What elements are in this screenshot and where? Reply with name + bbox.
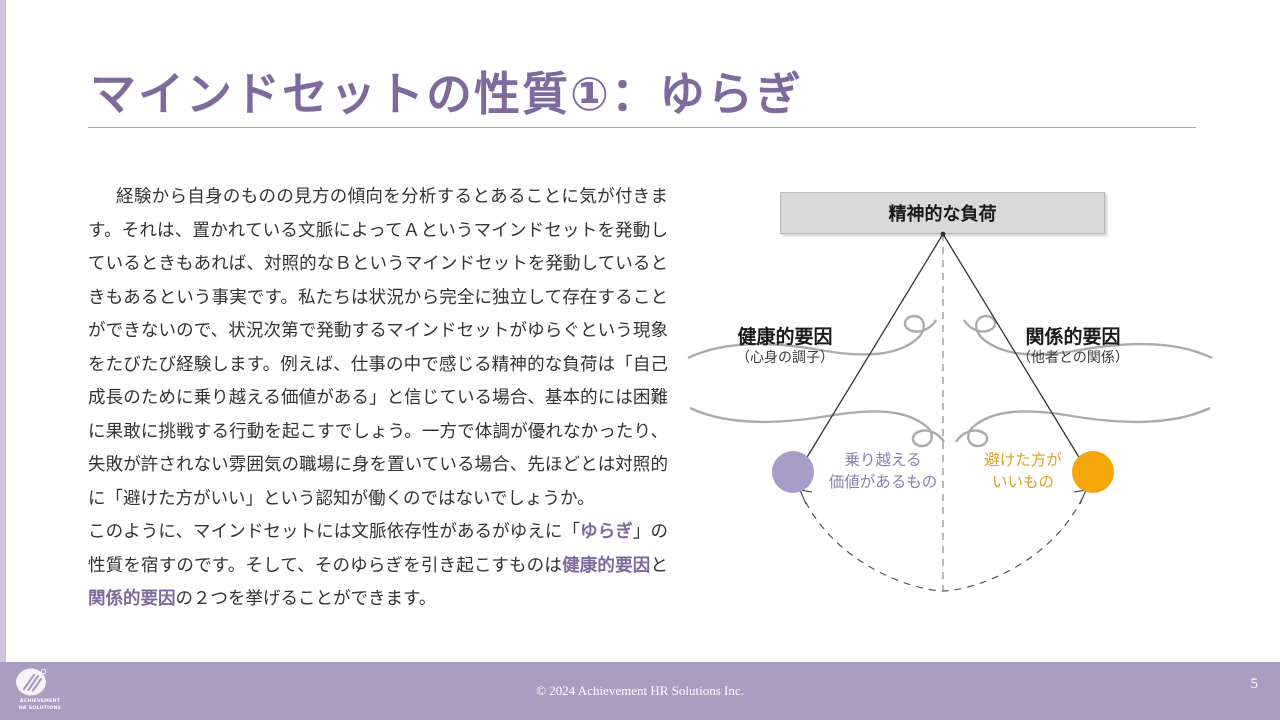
factor-right-title: 関係的要因 (968, 325, 1178, 349)
factor-left-subtitle: （心身の調子） (680, 349, 890, 369)
slide-canvas: マインドセットの性質①：ゆらぎ 経験から自身のものの見方の傾向を分析するとあるこ… (0, 0, 1280, 720)
title-divider (88, 127, 1196, 128)
factor-left: 健康的要因 （心身の調子） (680, 325, 890, 369)
p2-text-3: と (651, 555, 669, 575)
ball-label-right: 避けた方が いいもの (948, 450, 1098, 494)
footer-copyright: © 2024 Achievement HR Solutions Inc. (0, 662, 1280, 720)
factor-right: 関係的要因 （他者との関係） (968, 325, 1178, 369)
p2-highlight-yuragi: ゆらぎ (580, 521, 633, 541)
left-accent-strip (0, 0, 6, 720)
ball-label-right-line2: いいもの (948, 472, 1098, 494)
body-text-block: 経験から自身のものの見方の傾向を分析するとあることに気が付きます。それは、置かれ… (88, 180, 668, 616)
page-title: マインドセットの性質①：ゆらぎ (90, 58, 803, 124)
ball-label-right-line1: 避けた方が (948, 450, 1098, 472)
p2-text-4: の２つを挙げることができます。 (176, 588, 437, 608)
ball-label-left-line1: 乗り越える (808, 450, 958, 472)
page-number: 5 (1251, 676, 1259, 693)
factor-right-subtitle: （他者との関係） (968, 349, 1178, 369)
pendulum-pivot (941, 232, 946, 237)
body-paragraph-2: このように、マインドセットには文脈依存性があるがゆえに「ゆらぎ」の性質を宿すので… (88, 515, 668, 616)
ball-label-left-line2: 価値があるもの (808, 472, 958, 494)
p2-highlight-relation-factor: 関係的要因 (88, 588, 176, 608)
p2-text-1: このように、マインドセットには文脈依存性があるがゆえに「 (88, 521, 580, 541)
pendulum-diagram: 精神的な負荷 (680, 170, 1220, 610)
slide-footer: ACHIEVEMENT HR SOLUTIONS © 2024 Achievem… (0, 662, 1280, 720)
body-paragraph-1: 経験から自身のものの見方の傾向を分析するとあることに気が付きます。それは、置かれ… (88, 180, 668, 515)
p2-highlight-health-factor: 健康的要因 (562, 555, 650, 575)
factor-left-title: 健康的要因 (680, 325, 890, 349)
ball-label-left: 乗り越える 価値があるもの (808, 450, 958, 494)
pendulum-svg (680, 170, 1220, 610)
